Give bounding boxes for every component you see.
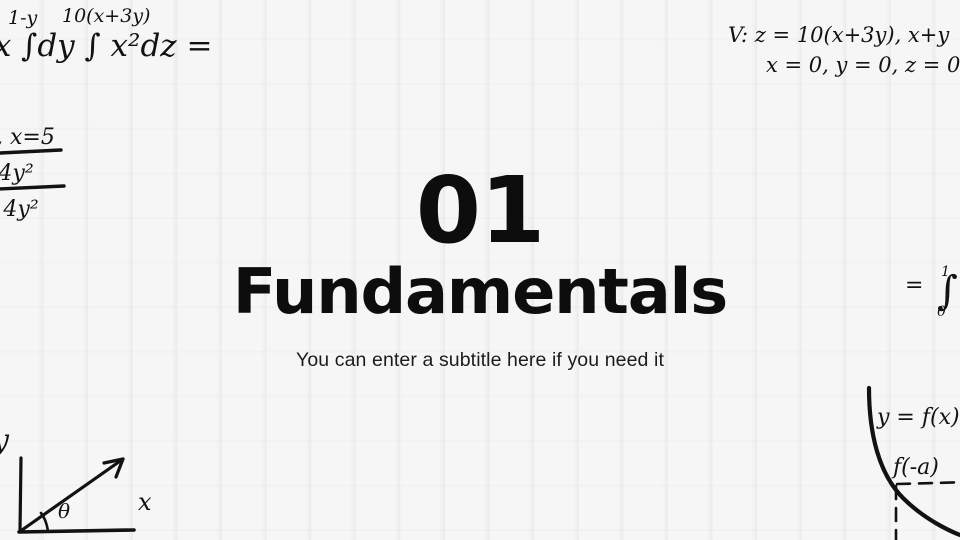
slide-subtitle: You can enter a subtitle here if you nee… xyxy=(296,349,664,372)
slide-text-block: 01 Fundamentals You can enter a subtitle… xyxy=(0,0,960,540)
slide-title: Fundamentals xyxy=(233,260,727,323)
slide-number: 01 xyxy=(416,168,545,254)
presentation-slide: 1-y 10(x+3y) dx ∫dy ∫ x²dz = V: z = 10(x… xyxy=(0,0,960,540)
